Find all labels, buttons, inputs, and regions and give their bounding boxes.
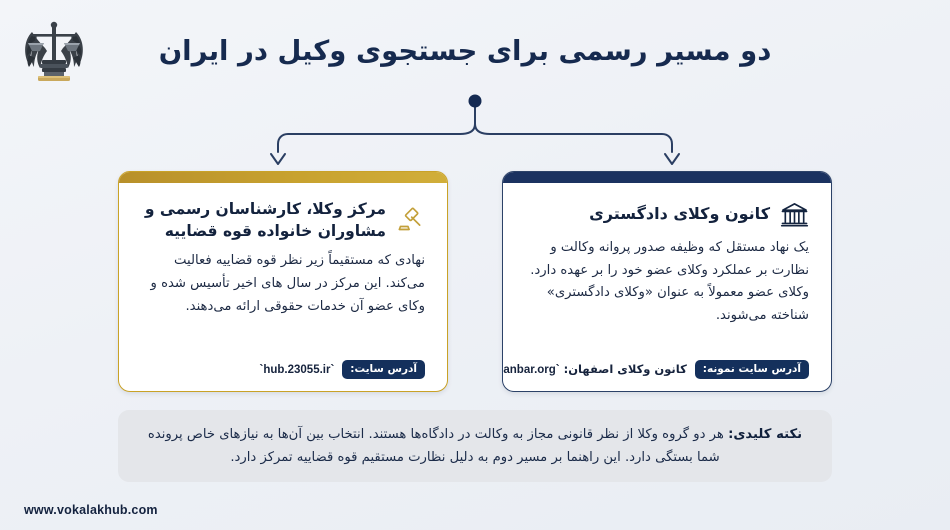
card-header: کانون وکلای دادگستری [525,199,809,229]
card-footer: آدرس سایت: `hub.23055.ir` [141,360,425,380]
branch-connector [250,92,700,174]
address-prefix: کانون وکلای اصفهان: [564,362,687,376]
bank-building-icon [779,199,809,229]
address-text: کانون وکلای اصفهان: `isfahanbar.org` [502,362,687,376]
key-note-body: هر دو گروه وکلا از نظر قانونی مجاز به وک… [148,427,728,465]
key-note-box: نکته کلیدی: هر دو گروه وکلا از نظر قانون… [118,410,832,482]
footer-website: www.vokalakhub.com [0,499,950,518]
address-badge: آدرس سایت نمونه: [695,360,809,380]
card-title: مرکز وکلا، کارشناسان رسمی و مشاوران خانو… [141,199,386,242]
key-note-label: نکته کلیدی: [728,427,802,442]
card-description: یک نهاد مستقل که وظیفه صدور پروانه وکالت… [525,237,809,356]
paths-card-row: کانون وکلای دادگستری یک نهاد مستقل که وظ… [0,171,950,393]
address-url[interactable]: `hub.23055.ir` [260,364,335,376]
card-kanoon-vokala[interactable]: کانون وکلای دادگستری یک نهاد مستقل که وظ… [502,171,832,392]
card-description: نهادی که مستقیماً زیر نظر قوه قضاییه فعا… [141,250,425,355]
address-url[interactable]: `isfahanbar.org` [502,364,560,376]
card-body: مرکز وکلا، کارشناسان رسمی و مشاوران خانو… [119,183,447,391]
arrow-down-icon [271,154,679,164]
card-accent-bar-gold [119,172,447,183]
card-accent-bar-navy [503,172,831,183]
card-title: کانون وکلای دادگستری [525,203,770,225]
card-header: مرکز وکلا، کارشناسان رسمی و مشاوران خانو… [141,199,425,242]
card-body: کانون وکلای دادگستری یک نهاد مستقل که وظ… [503,183,831,391]
key-note-text: نکته کلیدی: هر دو گروه وکلا از نظر قانون… [144,423,806,469]
card-footer: آدرس سایت نمونه: کانون وکلای اصفهان: `is… [525,360,809,380]
page-header: دو مسیر رسمی برای جستجوی وکیل در ایران [0,0,950,100]
gavel-icon [395,206,425,236]
address-text: `hub.23055.ir` [260,362,335,376]
footer-website-text[interactable]: www.vokalakhub.com [24,503,158,517]
address-badge: آدرس سایت: [342,360,425,380]
page-title: دو مسیر رسمی برای جستجوی وکیل در ایران [0,34,950,68]
card-markaz-vokala[interactable]: مرکز وکلا، کارشناسان رسمی و مشاوران خانو… [118,171,448,392]
